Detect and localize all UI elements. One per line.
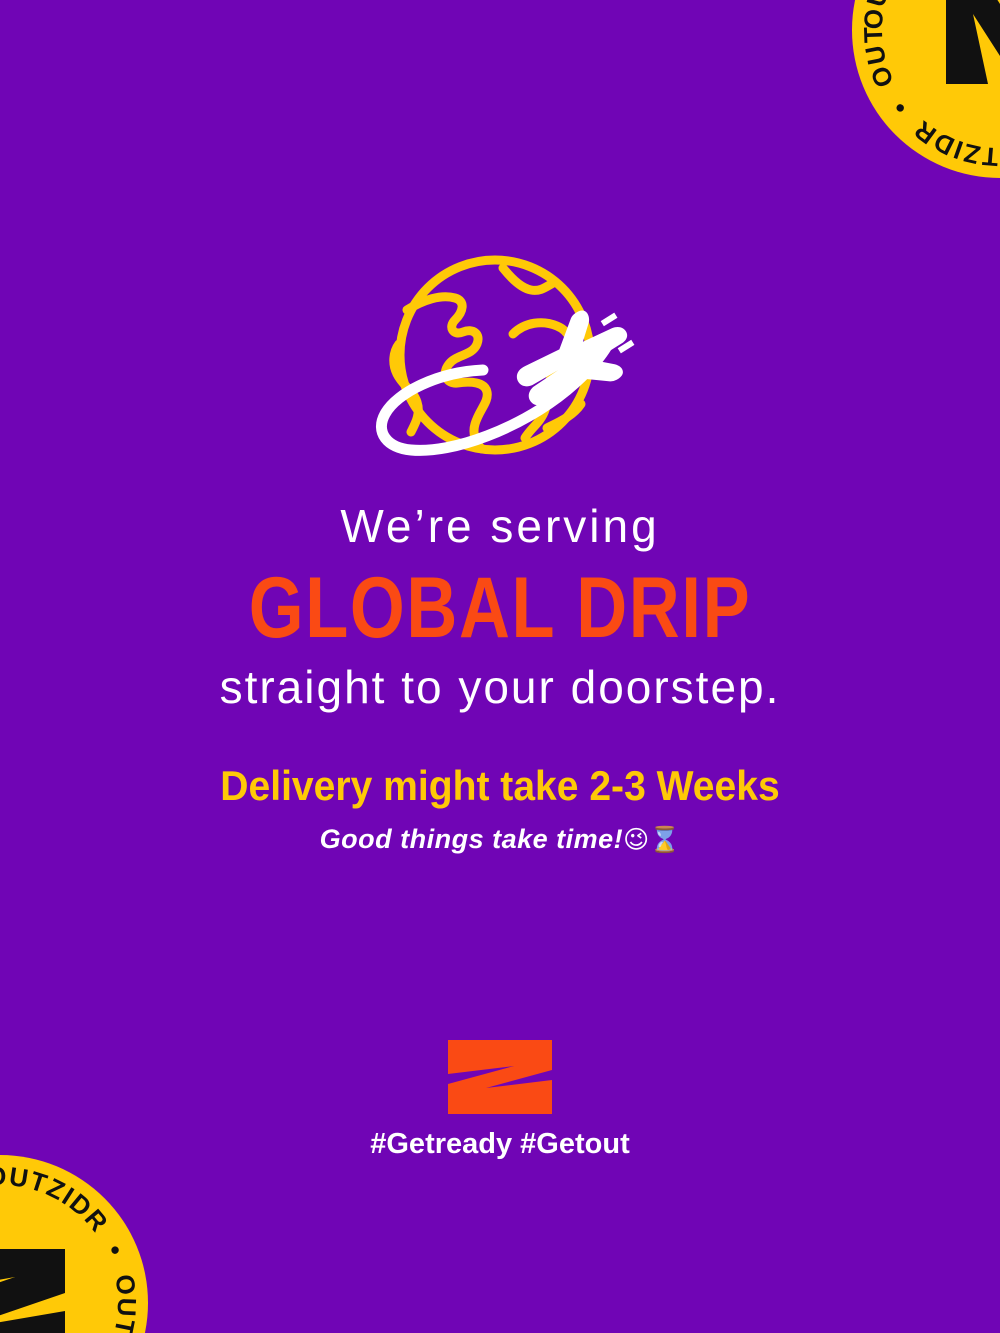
badge-top-right: OUTZIDR • OUTZIDR • OUTZIDR • OUTZIDR • … — [850, 0, 1000, 180]
globe-with-airplane-icon — [335, 252, 665, 467]
delivery-headline: Delivery might take 2-3 Weeks — [35, 762, 965, 810]
delivery-note: Good things take time!😉⌛ — [0, 824, 1000, 855]
delivery-note-emoji: 😉⌛ — [623, 825, 680, 854]
delivery-note-text: Good things take time! — [320, 824, 624, 854]
badge-bottom-left: OUTZIDR • OUTZIDR • OUTZIDR • OUTZIDR • … — [0, 1153, 150, 1333]
main-copy-block: We’re serving GLOBAL DRIP straight to yo… — [0, 500, 1000, 714]
badge-z-mark-bottom-left: OUTZIDR — [0, 1249, 74, 1333]
copy-subline: straight to your doorstep. — [0, 661, 1000, 714]
outzidr-z-logo — [444, 1036, 556, 1118]
hero-illustration — [0, 252, 1000, 467]
copy-eyebrow: We’re serving — [0, 500, 1000, 553]
poster-canvas: OUTZIDR • OUTZIDR • OUTZIDR • OUTZIDR • … — [0, 0, 1000, 1333]
footer-block: #Getready #Getout — [0, 1036, 1000, 1161]
footer-hashtags: #Getready #Getout — [0, 1128, 1000, 1161]
delivery-block: Delivery might take 2-3 Weeks Good thing… — [0, 762, 1000, 855]
copy-headline: GLOBAL DRIP — [90, 565, 910, 651]
